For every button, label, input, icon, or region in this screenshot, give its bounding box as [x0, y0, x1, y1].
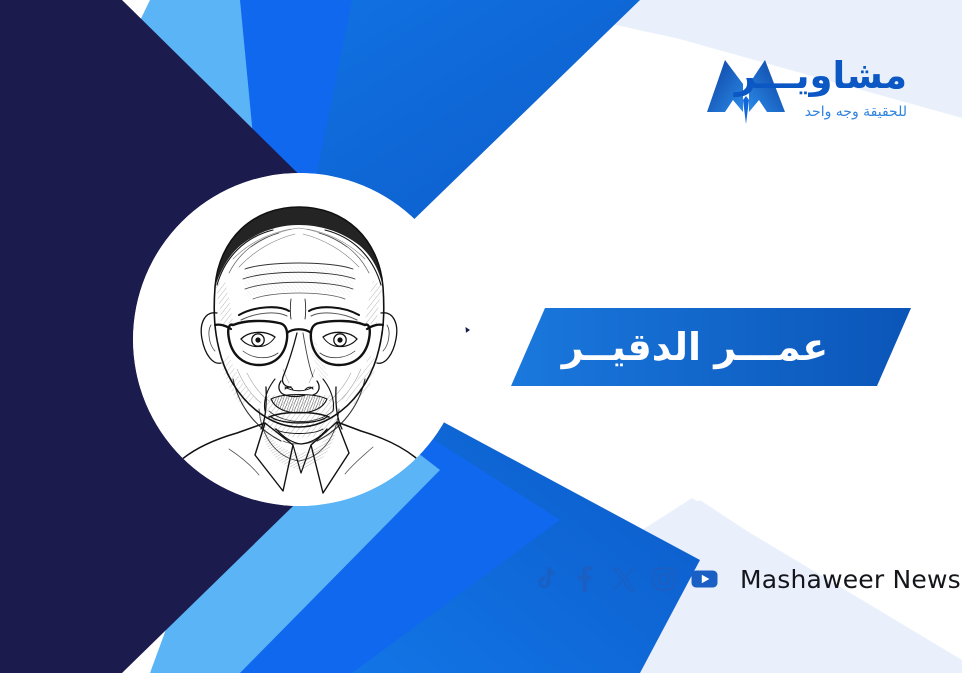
instagram-glyph — [652, 567, 676, 591]
tiktok-glyph — [533, 567, 555, 592]
logo-text-block: مشاويـــر للحقيقة وجه واحد — [795, 50, 907, 146]
social-links-row: Mashaweer News — [524, 560, 961, 598]
mashaweer-logo[interactable]: مشاويـــر للحقيقة وجه واحد — [703, 50, 908, 146]
brand-name-label: Mashaweer News — [740, 565, 961, 594]
news-graphic-card: مشاويـــر للحقيقة وجه واحد عمـــر الدقيـ… — [0, 0, 962, 673]
facebook-icon[interactable] — [564, 562, 604, 596]
youtube-icon[interactable] — [684, 562, 724, 596]
tiktok-icon[interactable] — [524, 562, 564, 596]
x-twitter-icon[interactable] — [604, 562, 644, 596]
x-glyph — [612, 567, 636, 591]
person-name: عمـــر الدقيــر — [511, 308, 879, 386]
instagram-icon[interactable] — [644, 562, 684, 596]
portrait-illustration — [133, 173, 466, 506]
logo-tagline: للحقيقة وجه واحد — [795, 102, 907, 122]
facebook-glyph — [577, 566, 592, 592]
youtube-glyph — [691, 569, 718, 589]
name-banner: عمـــر الدقيــر — [511, 308, 911, 386]
logo-wordmark: مشاويـــر — [795, 50, 907, 102]
portrait-circle — [133, 173, 466, 506]
